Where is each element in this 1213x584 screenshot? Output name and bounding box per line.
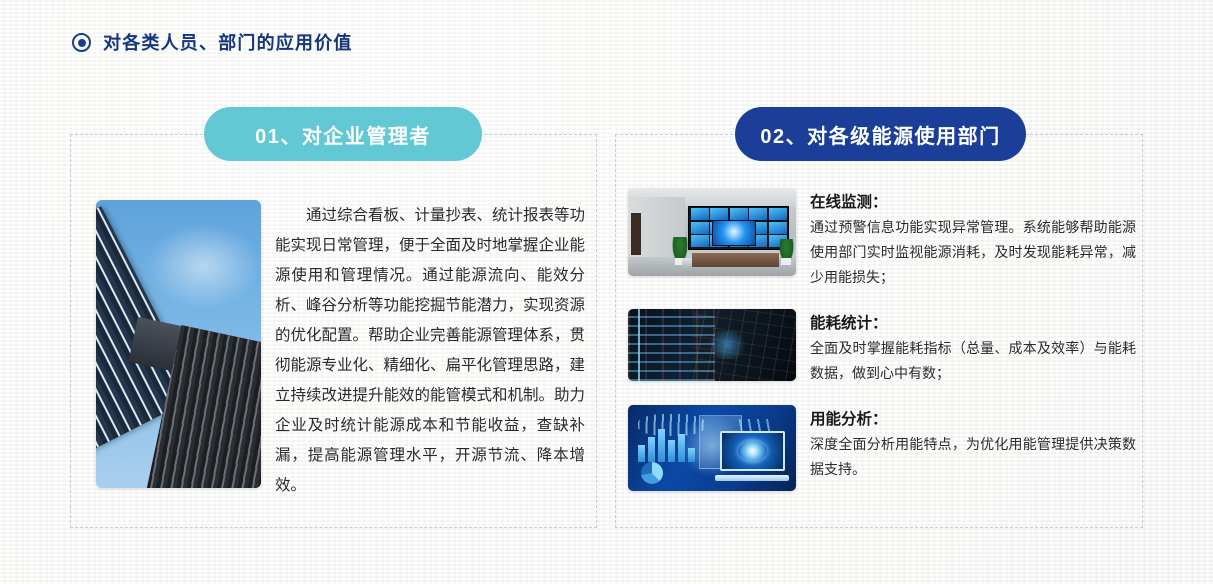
right-panel-content: 在线监测： 通过预警信息功能实现异常管理。系统能够帮助能源使用部门实时监视能源消…	[628, 188, 1136, 491]
page-title: 对各类人员、部门的应用价值	[103, 34, 353, 52]
keyboard-data-stream-photo	[628, 309, 796, 381]
target-ring-icon	[72, 33, 91, 52]
enterprise-managers-paragraph: 通过综合看板、计量抄表、统计报表等功能实现日常管理，便于全面及时地掌握企业能源使…	[275, 200, 585, 500]
list-item-desc: 全面及时掌握能耗指标（总量、成本及效率）与能耗数据，做到心中有数；	[810, 337, 1136, 387]
list-item-desc: 深度全面分析用能特点，为优化用能管理提供决策数据支持。	[810, 433, 1136, 483]
section-pill-02: 02、对各级能源使用部门	[735, 107, 1026, 161]
control-room-video-wall-photo	[628, 188, 796, 276]
left-panel-content: 通过综合看板、计量抄表、统计报表等功能实现日常管理，便于全面及时地掌握企业能源使…	[96, 200, 585, 500]
list-item-text: 用能分析： 深度全面分析用能特点，为优化用能管理提供决策数据支持。	[810, 405, 1136, 483]
list-item-title: 用能分析：	[810, 407, 1136, 431]
list-item-desc: 通过预警信息功能实现异常管理。系统能够帮助能源使用部门实时监视能源消耗，及时发现…	[810, 216, 1136, 291]
list-item-text: 能耗统计： 全面及时掌握能耗指标（总量、成本及效率）与能耗数据，做到心中有数；	[810, 309, 1136, 387]
section-pill-01: 01、对企业管理者	[204, 107, 482, 161]
list-item-text: 在线监测： 通过预警信息功能实现异常管理。系统能够帮助能源使用部门实时监视能源消…	[810, 188, 1136, 291]
list-item: 在线监测： 通过预警信息功能实现异常管理。系统能够帮助能源使用部门实时监视能源消…	[628, 188, 1136, 291]
list-item-title: 能耗统计：	[810, 311, 1136, 335]
list-item: 能耗统计： 全面及时掌握能耗指标（总量、成本及效率）与能耗数据，做到心中有数；	[628, 309, 1136, 387]
list-item: 用能分析： 深度全面分析用能特点，为优化用能管理提供决策数据支持。	[628, 405, 1136, 491]
list-item-title: 在线监测：	[810, 190, 1136, 214]
skyscraper-low-angle-photo	[96, 200, 261, 488]
data-analytics-laptop-graphic	[628, 405, 796, 491]
page-header: 对各类人员、部门的应用价值	[72, 33, 353, 52]
